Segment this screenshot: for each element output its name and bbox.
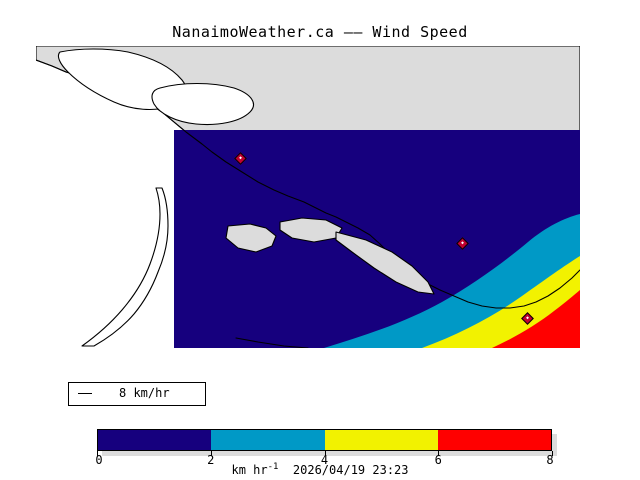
wind-barb-reference-line-icon [78, 393, 92, 394]
colorbar-segments[interactable] [97, 429, 552, 451]
timestamp-label: 2026/04/19 23:23 [293, 463, 409, 477]
vector-scale-key: 8 km/hr [68, 382, 206, 406]
colorbar-segment-4-6[interactable] [325, 430, 438, 450]
wind-speed-contour-field [174, 130, 580, 348]
caption-spacer [278, 463, 292, 477]
colorbar-caption: km hr-1 2026/04/19 23:23 [0, 462, 640, 477]
wind-speed-map-page: NanaimoWeather.ca —— Wind Speed [0, 0, 640, 480]
page-title: NanaimoWeather.ca —— Wind Speed [0, 23, 640, 41]
colorbar-segment-2-4[interactable] [211, 430, 324, 450]
map-plot-area[interactable] [36, 46, 580, 348]
contour-band-6-8 [174, 130, 580, 348]
units-label: km hr [231, 463, 267, 477]
vector-scale-label: 8 km/hr [119, 386, 170, 400]
colorbar[interactable]: 0 2 4 6 8 [97, 429, 552, 451]
units-exponent: -1 [268, 462, 279, 472]
colorbar-segment-0-2[interactable] [98, 430, 211, 450]
colorbar-segment-6-8[interactable] [438, 430, 551, 450]
